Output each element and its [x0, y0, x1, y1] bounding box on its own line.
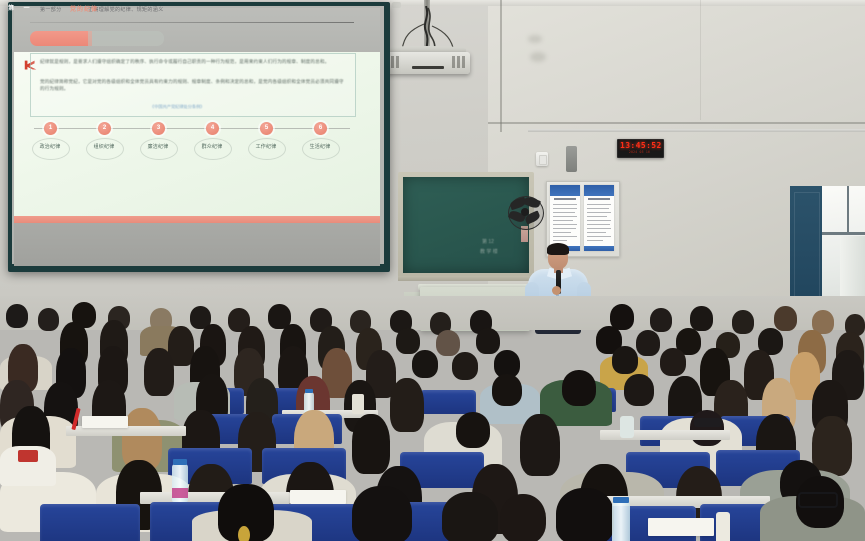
projector-vent	[457, 56, 460, 68]
student-head	[732, 310, 754, 334]
slide-node-label-4: 群众纪律	[190, 143, 234, 150]
wall-seam-vertical-2	[700, 0, 701, 120]
notice-title-bar	[554, 198, 576, 200]
notice-document-1	[550, 185, 580, 251]
clock-time-display: 13:45:52	[620, 141, 659, 150]
student-head	[396, 328, 420, 354]
red-card	[18, 450, 38, 462]
screen-lower-blank	[14, 223, 380, 266]
student-head	[636, 330, 660, 356]
speaker-hair	[547, 243, 569, 255]
projector-vent	[462, 56, 465, 68]
wall-mark	[528, 35, 542, 43]
slide-tab-left-label: 第 一	[8, 3, 34, 12]
wall-seam-vertical	[500, 0, 502, 132]
slide-node-label-6: 生活纪律	[298, 143, 342, 150]
slide-tab-left	[30, 31, 92, 46]
clock-date-display: 2024 05 16	[620, 150, 659, 154]
door-panel	[794, 192, 820, 310]
student-head	[690, 410, 724, 446]
slide-tab-right	[88, 31, 164, 46]
notebook-paper[interactable]	[82, 416, 128, 428]
slide-node-label-5: 工作纪律	[244, 143, 288, 150]
slide-header-rule	[30, 22, 354, 23]
light-switch-button[interactable]	[539, 155, 547, 165]
student-audience	[0, 296, 865, 541]
student-hair	[556, 488, 614, 541]
window-mullion-v	[847, 186, 849, 232]
student-head	[660, 348, 686, 376]
slide-node-5: 5	[260, 122, 273, 135]
student-hair	[390, 378, 424, 432]
paper-cup[interactable]	[352, 394, 364, 414]
slide-node-label-2: 组织纪律	[82, 143, 126, 150]
hair-tie	[238, 526, 250, 541]
student-head	[492, 374, 522, 406]
student-hair	[352, 486, 412, 541]
slide-node-label-1: 政治纪律	[28, 143, 72, 150]
notice-header	[584, 185, 614, 196]
slide-bottom-band	[14, 216, 380, 223]
student-head	[612, 346, 638, 374]
chalkboard-writing-2: 教 学 楼	[480, 248, 498, 255]
lecture-hall-photo: 第一部分 正确理解党的纪律、规矩的涵义 第 一 党的纪律 纪律就是规则，是要求人…	[0, 0, 865, 541]
chalkboard-ledge	[398, 276, 534, 281]
slide-paragraph-2: 党的纪律简称党纪，它是对党的各级组织和全体党员具有约束力的规则、规章制度、条例和…	[40, 78, 344, 92]
student-hair	[812, 416, 852, 476]
student-head	[650, 308, 672, 332]
student-hair	[442, 492, 498, 541]
student-head	[38, 308, 59, 331]
eyeglasses-icon	[694, 418, 722, 427]
slide-section-title: 正确理解党的纪律、规矩的涵义	[88, 6, 164, 13]
projector-vent	[452, 56, 455, 68]
wall-mounted-box	[566, 146, 577, 172]
slide-paragraph-1: 纪律就是规则，是要求人们遵守组织确定了的秩序、执行命令或履行自己职责的一种行为规…	[40, 58, 344, 65]
student-head	[452, 352, 478, 380]
slide-tab-group	[30, 31, 164, 46]
slide-node-6: 6	[314, 122, 327, 135]
slide-source-citation: 《中国共产党纪律处分条例》	[150, 104, 204, 110]
auditorium-chair[interactable]	[420, 390, 476, 414]
student-head	[500, 494, 546, 541]
window-mullion-h	[822, 232, 865, 235]
wall-seam-horizontal	[488, 122, 865, 124]
notice-document-2	[584, 185, 614, 251]
water-bottle[interactable]	[716, 512, 730, 541]
slide-node-2: 2	[98, 122, 111, 135]
bottle-cap	[305, 389, 313, 393]
student-hair	[144, 348, 174, 396]
fan-hub	[521, 208, 529, 216]
slide-node-3: 3	[152, 122, 165, 135]
bottle-cap	[613, 497, 629, 503]
green-chalkboard	[403, 177, 529, 273]
student-head	[624, 374, 654, 406]
slide-tab-right-label: 党的纪律	[70, 4, 98, 13]
student-hair	[520, 414, 560, 476]
slide-node-4: 4	[206, 122, 219, 135]
bottle-label	[172, 488, 188, 498]
student-head	[6, 304, 28, 328]
student-head	[456, 412, 490, 448]
slide-node-label-3: 廉洁纪律	[136, 143, 180, 150]
notebook-paper[interactable]	[290, 490, 346, 504]
bottle-cap	[173, 459, 187, 465]
speaker-hand	[552, 286, 561, 295]
notebook-paper[interactable]	[648, 518, 714, 536]
eyeglasses-icon	[798, 492, 838, 508]
water-bottle[interactable]	[612, 502, 630, 541]
student-head	[774, 306, 797, 331]
projector-controls	[412, 66, 444, 69]
notice-title-bar	[588, 198, 610, 200]
chalkboard-writing-1: 第 12	[482, 238, 494, 245]
auditorium-chair[interactable]	[40, 504, 140, 541]
student-hair	[352, 414, 390, 474]
student-head	[562, 370, 596, 406]
thermos[interactable]	[620, 416, 634, 438]
notice-header	[550, 185, 580, 196]
slide-timeline-axis	[34, 128, 350, 129]
student-head	[690, 306, 713, 331]
wall-mark-2	[530, 52, 546, 62]
wall-rail	[528, 129, 865, 132]
student-head	[436, 330, 460, 356]
notice-footer	[584, 246, 614, 251]
student-head	[476, 328, 500, 354]
projector-vent	[396, 56, 399, 68]
slide-node-1: 1	[44, 122, 57, 135]
student-head	[412, 350, 438, 378]
slide-section-label: 第一部分	[40, 6, 62, 13]
projector-vent	[391, 56, 394, 68]
